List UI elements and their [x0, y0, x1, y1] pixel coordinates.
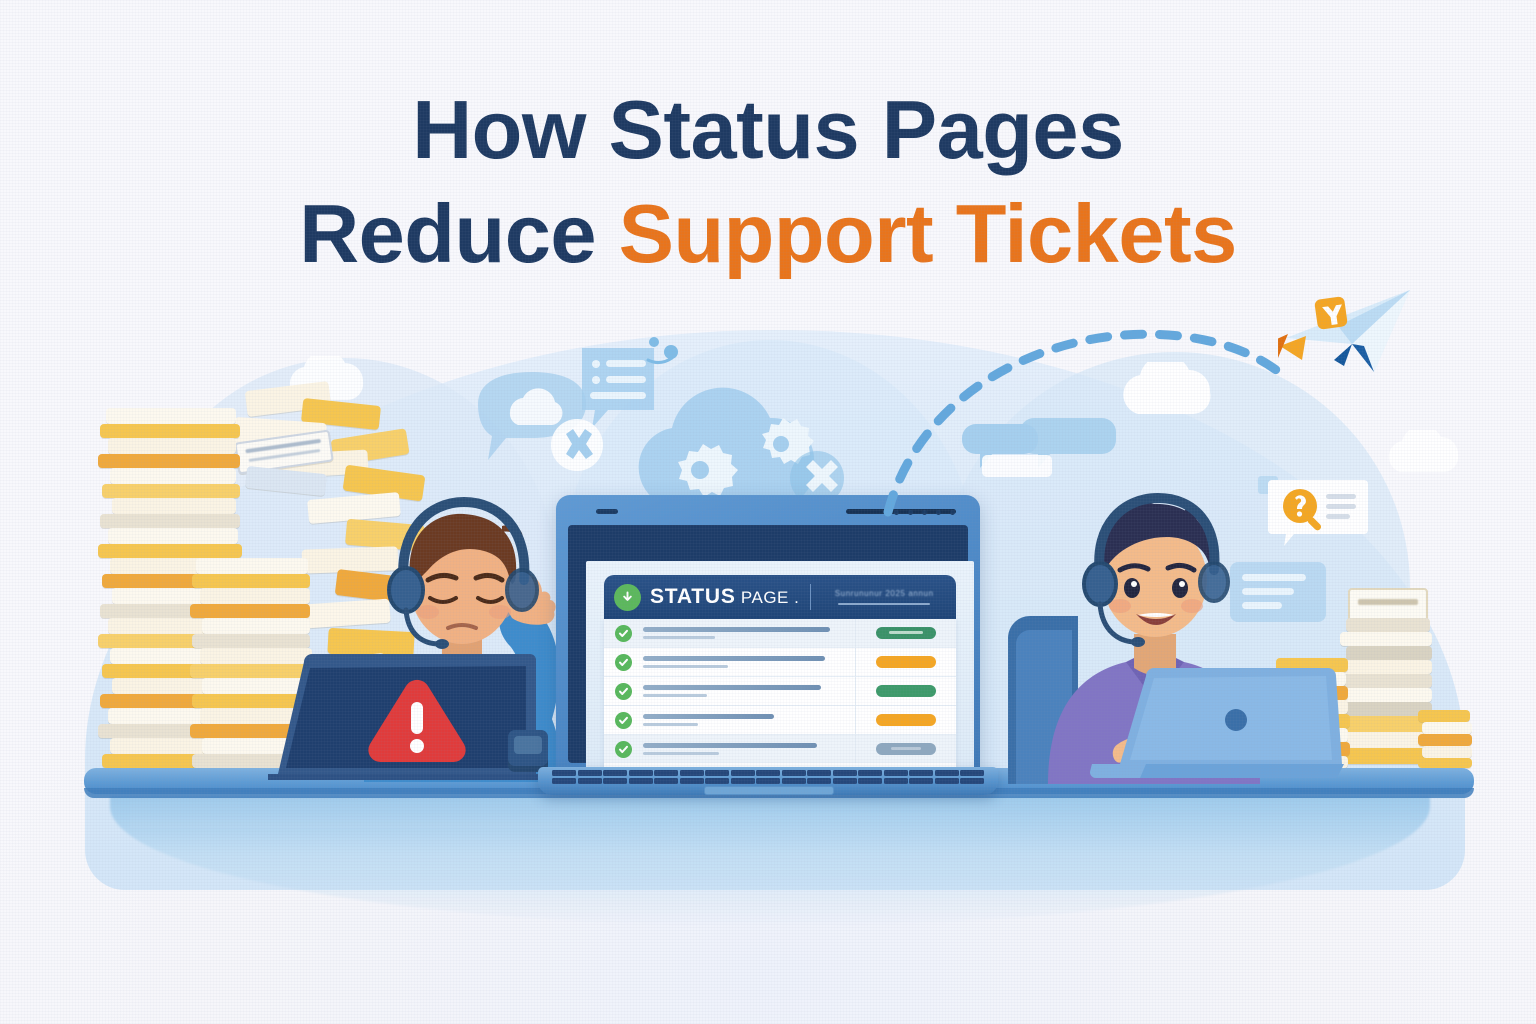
agent-laptop-right [1076, 668, 1346, 783]
paper-plane-icon [1278, 286, 1418, 376]
status-page-laptop: STATUS PAGE . Sunrununur 2025 annun [556, 495, 980, 795]
service-name [643, 714, 855, 726]
service-name [643, 627, 855, 639]
status-cell[interactable] [855, 735, 956, 763]
title-line-2-prefix: Reduce [299, 187, 618, 280]
laptop-bezel: STATUS PAGE . Sunrununur 2025 annun [568, 525, 968, 763]
table-row[interactable] [604, 648, 956, 677]
status-badge [876, 627, 936, 639]
desk-reflection [110, 796, 1430, 926]
laptop-lid: STATUS PAGE . Sunrununur 2025 annun [556, 495, 980, 773]
check-circle-icon [615, 712, 632, 729]
laptop-base [538, 767, 998, 795]
status-badge [876, 743, 936, 755]
table-row[interactable] [604, 735, 956, 763]
check-circle-icon [615, 683, 632, 700]
laptop-keyboard[interactable] [552, 770, 984, 784]
check-circle-icon [615, 654, 632, 671]
check-circle-icon [615, 741, 632, 758]
table-row[interactable] [604, 619, 956, 648]
laptop-trackpad[interactable] [704, 786, 834, 795]
service-name [643, 656, 855, 668]
title-line-2-accent: Support Tickets [619, 187, 1237, 280]
status-cell[interactable] [855, 648, 956, 676]
table-row[interactable] [604, 706, 956, 735]
laptop-screen: STATUS PAGE . Sunrununur 2025 annun [586, 561, 974, 789]
illustration-canvas: TICKETS [0, 0, 1536, 1024]
page-title: How Status Pages Reduce Support Tickets [0, 78, 1536, 286]
status-table [604, 619, 956, 779]
cloud-icon [1380, 430, 1472, 480]
title-line-2: Reduce Support Tickets [0, 182, 1536, 286]
status-badge [876, 656, 936, 668]
status-page-header: STATUS PAGE . Sunrununur 2025 annun [604, 575, 956, 619]
tickets-label-text: TICKETS [1358, 599, 1418, 605]
status-page-meta-underline [838, 603, 930, 605]
table-row[interactable] [604, 677, 956, 706]
download-arrow-circle-icon [614, 584, 641, 611]
status-cell[interactable] [855, 677, 956, 705]
status-page-brand: STATUS PAGE . [650, 585, 799, 609]
service-name [643, 685, 855, 697]
status-badge [876, 714, 936, 726]
check-circle-icon [615, 625, 632, 642]
brand-strong: STATUS [650, 585, 736, 608]
dashed-trajectory-arc [880, 300, 1320, 520]
status-page-meta: Sunrununur 2025 annun [822, 589, 946, 605]
laptop-indicator-dots [596, 509, 618, 514]
status-cell[interactable] [855, 706, 956, 734]
header-divider [810, 584, 811, 610]
desk-device [508, 730, 548, 772]
status-badge [876, 685, 936, 697]
service-name [643, 743, 855, 755]
status-page-meta-text: Sunrununur 2025 annun [822, 589, 946, 598]
status-cell[interactable] [855, 619, 956, 647]
brand-light: PAGE . [736, 588, 800, 607]
sparkle-icon [640, 330, 686, 374]
title-line-1: How Status Pages [0, 78, 1536, 182]
tickets-label-card: TICKETS [1348, 588, 1428, 622]
